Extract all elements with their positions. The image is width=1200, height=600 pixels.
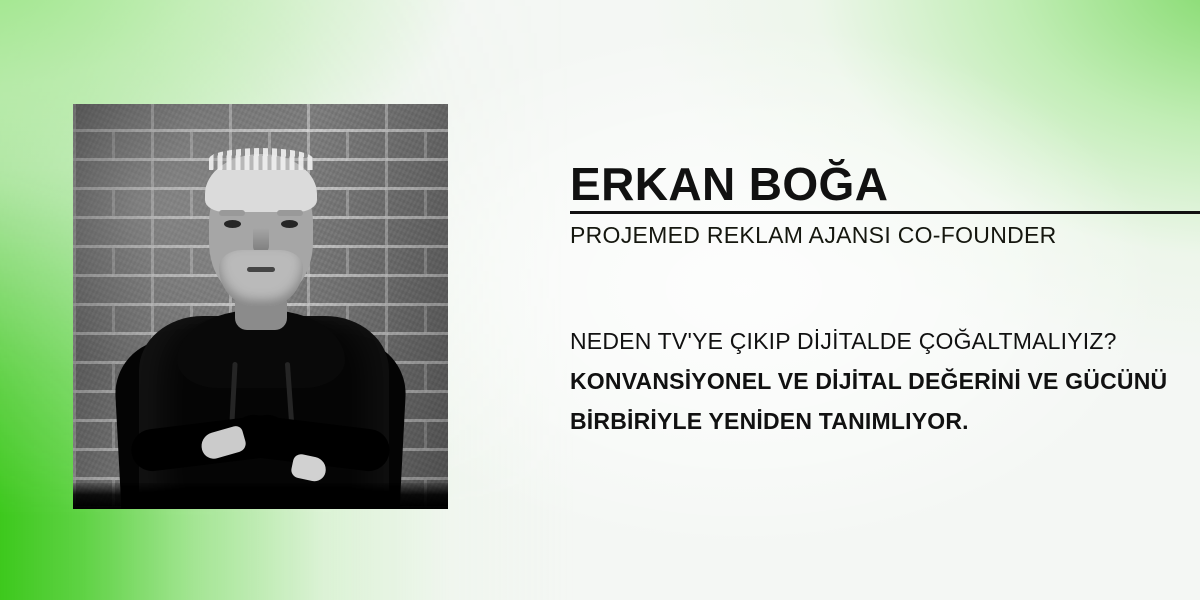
title-divider-rule (570, 211, 1200, 214)
article-header-banner: ERKAN BOĞA PROJEMED REKLAM AJANSI CO-FOU… (0, 0, 1200, 600)
quote-line-2: KONVANSİYONEL VE DİJİTAL DEĞERİNİ VE GÜC… (570, 368, 1192, 394)
quote-line-3: BİRBİRİYLE YENİDEN TANIMLIYOR. (570, 408, 1192, 434)
person-name: ERKAN BOĞA (570, 160, 888, 208)
text-column: ERKAN BOĞA PROJEMED REKLAM AJANSI CO-FOU… (570, 0, 1200, 600)
quote-line-1: NEDEN TV'YE ÇIKIP DİJİTALDE ÇOĞALTMALIYI… (570, 328, 1192, 354)
portrait-photo (73, 104, 448, 509)
figure-hair-texture (209, 148, 313, 170)
figure-eye-left (224, 220, 241, 228)
quote-block: NEDEN TV'YE ÇIKIP DİJİTALDE ÇOĞALTMALIYI… (570, 328, 1192, 434)
figure-beard (219, 250, 303, 306)
figure-eyebrow-right (277, 210, 303, 216)
figure-eye-right (281, 220, 298, 228)
portrait-bottom-shadow (73, 483, 448, 509)
figure-mouth (247, 267, 275, 272)
portrait-figure (73, 104, 448, 509)
figure-eyebrow-left (219, 210, 245, 216)
person-role: PROJEMED REKLAM AJANSI CO-FOUNDER (570, 221, 1057, 249)
